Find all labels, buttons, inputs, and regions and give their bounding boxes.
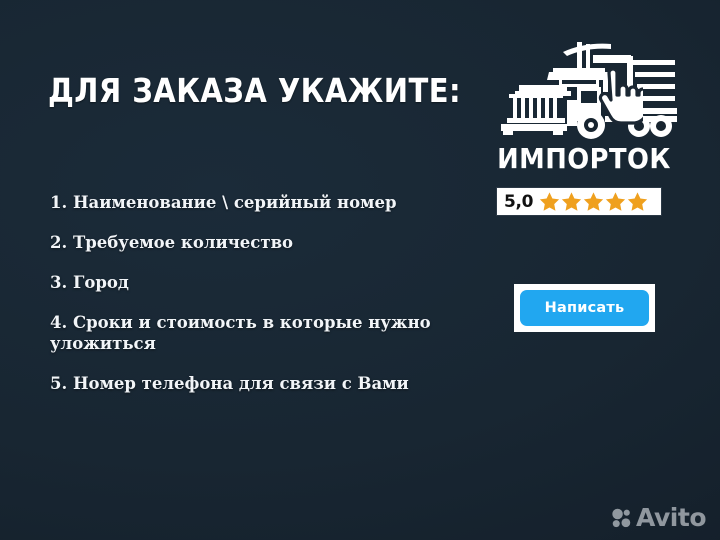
- avito-watermark: Avito: [611, 505, 706, 530]
- semi-truck-icon: [489, 30, 679, 142]
- list-item: 3. Город: [50, 272, 470, 293]
- write-message-button[interactable]: Написать: [520, 290, 649, 326]
- star-icon: [583, 191, 604, 212]
- list-item: 1. Наименование \ серийный номер: [50, 192, 470, 213]
- page-title: ДЛЯ ЗАКАЗА УКАЖИТЕ:: [48, 72, 426, 110]
- requirements-list: 1. Наименование \ серийный номер 2. Треб…: [50, 192, 470, 394]
- order-instructions-block: ДЛЯ ЗАКАЗА УКАЖИТЕ: 1. Наименование \ се…: [48, 72, 478, 110]
- brand-block: ИМПОРТОК 5,0 Написать: [484, 30, 684, 174]
- star-icon: [539, 191, 560, 212]
- ad-banner: ДЛЯ ЗАКАЗА УКАЖИТЕ: 1. Наименование \ се…: [0, 0, 720, 540]
- avito-watermark-text: Avito: [636, 505, 706, 530]
- list-item: 2. Требуемое количество: [50, 232, 470, 253]
- avito-dots-icon: [611, 507, 632, 528]
- brand-name: ИМПОРТОК: [492, 144, 676, 174]
- star-icon: [627, 191, 648, 212]
- write-button-panel: Написать: [514, 284, 655, 332]
- list-item: 5. Номер телефона для связи с Вами: [50, 373, 470, 394]
- star-icon: [561, 191, 582, 212]
- star-icon: [605, 191, 626, 212]
- list-item: 4. Сроки и стоимость в которые нужно уло…: [50, 312, 470, 354]
- rating-value: 5,0: [504, 192, 533, 212]
- star-rating: [539, 191, 648, 212]
- rating-badge: 5,0: [496, 187, 662, 216]
